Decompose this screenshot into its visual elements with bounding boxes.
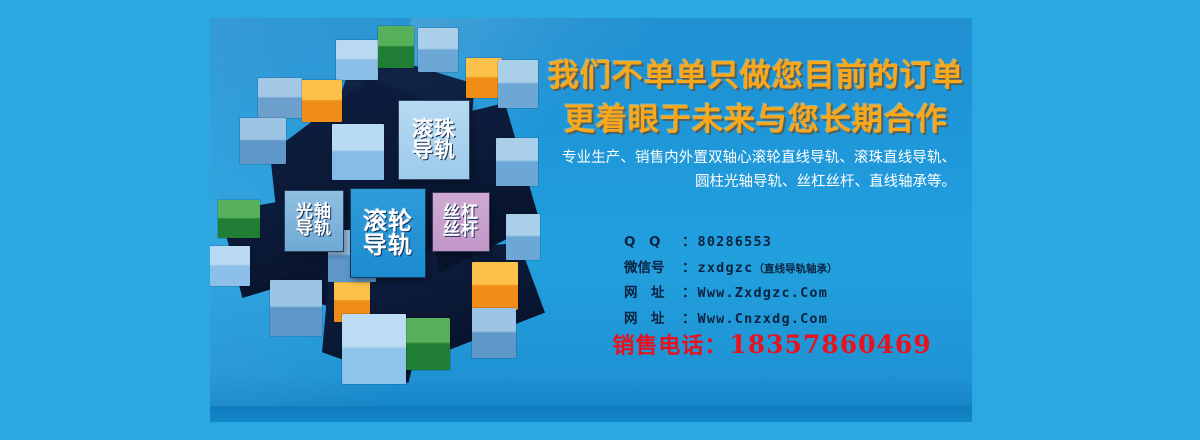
contact-colon: ： <box>682 281 696 301</box>
cube <box>240 118 286 164</box>
cube-face <box>506 214 540 260</box>
cube <box>332 124 384 180</box>
cube <box>472 308 516 358</box>
product-label-line1: 滚珠 <box>412 119 456 140</box>
contact-label: 网 址 <box>624 307 682 327</box>
cube-face <box>210 246 250 286</box>
contact-colon: ： <box>682 230 696 250</box>
contact-colon: ： <box>682 307 696 327</box>
cube-face <box>332 124 384 180</box>
cube-face <box>498 60 538 108</box>
cube-face <box>466 58 502 98</box>
cube-cluster-graphic: 滚珠 导轨 光轴 导轨 滚轮 导轨 丝杠 丝杆 <box>210 18 540 422</box>
product-label-roller-guide[interactable]: 滚轮 导轨 <box>350 188 426 278</box>
cube <box>218 200 260 238</box>
cube <box>342 314 406 384</box>
cube-face <box>418 28 458 72</box>
cube <box>498 60 538 108</box>
cube <box>466 58 502 98</box>
banner-bottom-band <box>210 406 972 422</box>
product-label-line2: 导轨 <box>296 221 332 238</box>
cube-face <box>270 280 322 336</box>
cube <box>506 214 540 260</box>
cube-face <box>258 78 302 118</box>
contact-value-qq[interactable]: 80286553 <box>698 234 773 250</box>
cube-face <box>472 308 516 358</box>
contact-list: Q Q ： 80286553 微信号 ： zxdgzc （直线导轨轴承） 网 址… <box>624 230 972 332</box>
contact-label: Q Q <box>624 230 682 250</box>
contact-value-website-2[interactable]: Www.Cnzxdg.Com <box>698 311 829 327</box>
cube <box>406 318 450 370</box>
product-label-line2: 导轨 <box>412 140 456 161</box>
cube-face <box>336 40 378 80</box>
contact-row-qq: Q Q ： 80286553 <box>624 230 972 250</box>
cube-face <box>406 318 450 370</box>
product-label-optical-axis-guide[interactable]: 光轴 导轨 <box>284 190 344 252</box>
contact-row-wechat: 微信号 ： zxdgzc （直线导轨轴承） <box>624 256 972 276</box>
contact-row-website-1: 网 址 ： Www.Zxdgzc.Com <box>624 281 972 301</box>
cube-face <box>218 200 260 238</box>
cube <box>302 80 342 122</box>
contact-colon: ： <box>682 256 696 276</box>
headline-line-2: 更着眼于未来与您长期合作 <box>540 94 972 139</box>
cube-face <box>302 80 342 122</box>
sales-phone-label: 销售电话： <box>612 328 727 360</box>
sales-phone-number[interactable]: 18357860469 <box>729 330 931 359</box>
cube-face <box>378 26 414 68</box>
product-label-lead-screw[interactable]: 丝杠 丝杆 <box>432 192 490 252</box>
cube <box>258 78 302 118</box>
cube <box>336 40 378 80</box>
cube <box>270 280 322 336</box>
cube-face <box>342 314 406 384</box>
cube <box>472 262 518 310</box>
cube-face <box>240 118 286 164</box>
contact-label: 微信号 <box>624 256 682 276</box>
contact-value-website-1[interactable]: Www.Zxdgzc.Com <box>698 285 829 301</box>
cube-face <box>496 138 538 186</box>
banner-copy-column: 我们不单单只做您目前的订单 更着眼于未来与您长期合作 专业生产、销售内外置双轴心… <box>540 18 972 422</box>
product-label-line2: 丝杆 <box>443 222 479 239</box>
contact-row-website-2: 网 址 ： Www.Cnzxdg.Com <box>624 307 972 327</box>
headline-line-1: 我们不单单只做您目前的订单 <box>540 50 972 95</box>
cube <box>378 26 414 68</box>
body-description: 专业生产、销售内外置双轴心滚轮直线导轨、滚珠直线导轨、圆柱光轴导轨、丝杠丝杆、直… <box>562 146 956 194</box>
product-label-line1: 滚轮 <box>363 209 413 233</box>
cube <box>418 28 458 72</box>
banner-stage: 滚珠 导轨 光轴 导轨 滚轮 导轨 丝杠 丝杆 我们不单单只做您目前的订单 更着… <box>0 0 1200 440</box>
contact-note-wechat: （直线导轨轴承） <box>753 261 837 276</box>
advertising-banner: 滚珠 导轨 光轴 导轨 滚轮 导轨 丝杠 丝杆 我们不单单只做您目前的订单 更着… <box>210 18 972 422</box>
cube <box>210 246 250 286</box>
product-label-line2: 导轨 <box>363 233 413 257</box>
contact-value-wechat[interactable]: zxdgzc <box>698 260 754 276</box>
cube <box>496 138 538 186</box>
cube-face <box>472 262 518 310</box>
contact-label: 网 址 <box>624 281 682 301</box>
sales-phone[interactable]: 销售电话： 18357860469 <box>572 328 972 360</box>
product-label-rolling-ball-guide[interactable]: 滚珠 导轨 <box>398 100 470 180</box>
